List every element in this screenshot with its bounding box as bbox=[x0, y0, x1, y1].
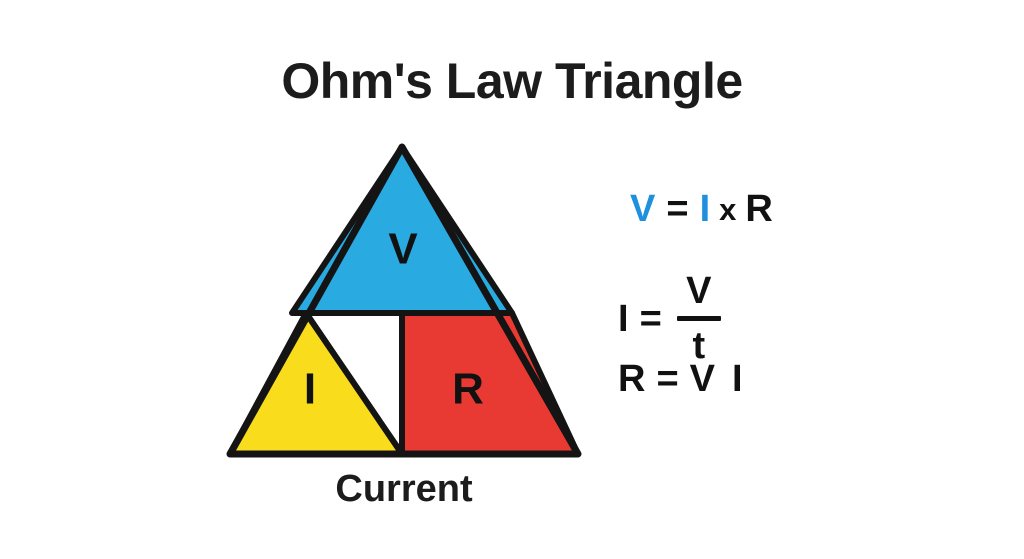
fraction-bar-icon bbox=[677, 316, 721, 321]
formula-voltage: V = I x R bbox=[630, 190, 773, 228]
triangle-svg: V I R bbox=[196, 130, 616, 470]
formula-voltage-current-term: I bbox=[700, 190, 711, 228]
formula-voltage-operator: x bbox=[719, 194, 736, 225]
formula-current-lhs: I bbox=[618, 300, 629, 338]
formula-voltage-lhs: V bbox=[630, 190, 655, 228]
page-title: Ohm's Law Triangle bbox=[0, 52, 1024, 110]
formula-current-fraction: V t bbox=[677, 272, 721, 365]
triangle-segment-resistance bbox=[402, 313, 578, 454]
triangle-letter-voltage: V bbox=[388, 225, 418, 274]
triangle-letter-resistance: R bbox=[452, 365, 484, 414]
formula-current: I = V t bbox=[618, 272, 721, 365]
formula-resistance: R = V I bbox=[618, 360, 743, 398]
formula-resistance-equals: = bbox=[656, 360, 678, 398]
triangle-letter-current: I bbox=[304, 365, 316, 414]
formula-current-equals: = bbox=[640, 300, 662, 338]
formula-voltage-equals: = bbox=[666, 190, 688, 228]
formula-voltage-resistance-term: R bbox=[745, 190, 772, 228]
formula-list: V = I x R I = V t R = V I bbox=[612, 186, 872, 416]
screenshot-canvas: Ohm's Law Triangle V I R Current V = bbox=[0, 0, 1024, 559]
ohms-law-triangle-diagram: V I R bbox=[196, 130, 616, 470]
formula-resistance-lhs: R bbox=[618, 360, 645, 398]
triangle-caption-current: Current bbox=[230, 468, 578, 511]
formula-current-numerator: V bbox=[680, 272, 717, 310]
formula-resistance-voltage-term: V bbox=[690, 360, 715, 398]
formula-resistance-current-term: I bbox=[732, 360, 743, 398]
